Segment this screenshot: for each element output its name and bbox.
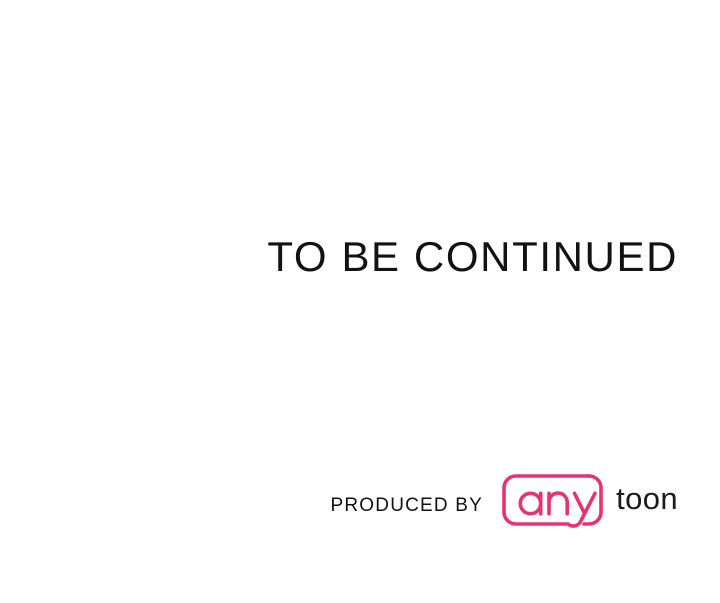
toon-wordmark: toon bbox=[616, 483, 678, 514]
any-badge-icon bbox=[500, 472, 605, 528]
produced-by-label: PRODUCED BY bbox=[331, 496, 484, 515]
producer-credit: PRODUCED BY toon bbox=[331, 472, 679, 528]
end-card: TO BE CONTINUED PRODUCED BY bbox=[0, 0, 720, 603]
anytoon-logo: toon bbox=[500, 472, 678, 528]
page-title: TO BE CONTINUED bbox=[0, 236, 678, 278]
